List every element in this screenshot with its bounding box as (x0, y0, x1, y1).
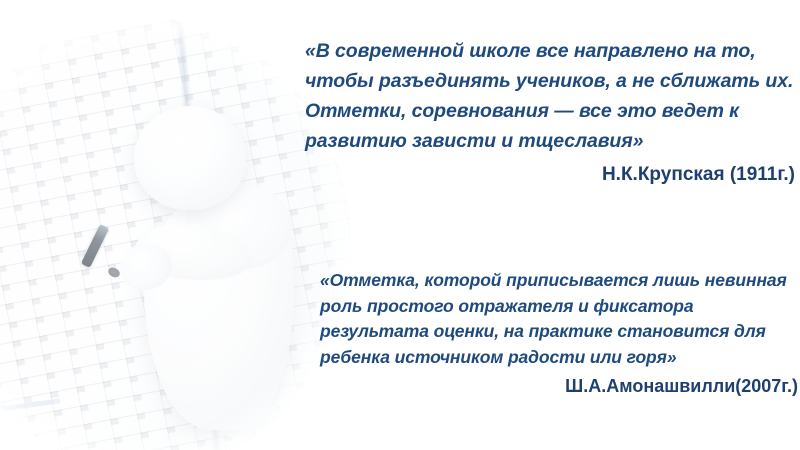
slide-canvas: «В современной школе все направлено на т… (0, 0, 800, 450)
quote-2-attribution: Ш.А.Амонашвилли(2007г.) (320, 376, 798, 397)
figure-head (134, 106, 246, 210)
quote-block-2: «Отметка, которой приписывается лишь нев… (320, 268, 798, 397)
quote-block-1: «В современной школе все направлено на т… (305, 36, 797, 186)
circular-photo (0, 18, 350, 450)
3d-figure-icon (0, 18, 350, 450)
quote-2-text: «Отметка, которой приписывается лишь нев… (320, 268, 798, 370)
quote-1-text: «В современной школе все направлено на т… (305, 36, 797, 156)
quote-1-attribution: Н.К.Крупская (1911г.) (305, 164, 797, 186)
pen-icon (81, 224, 109, 268)
